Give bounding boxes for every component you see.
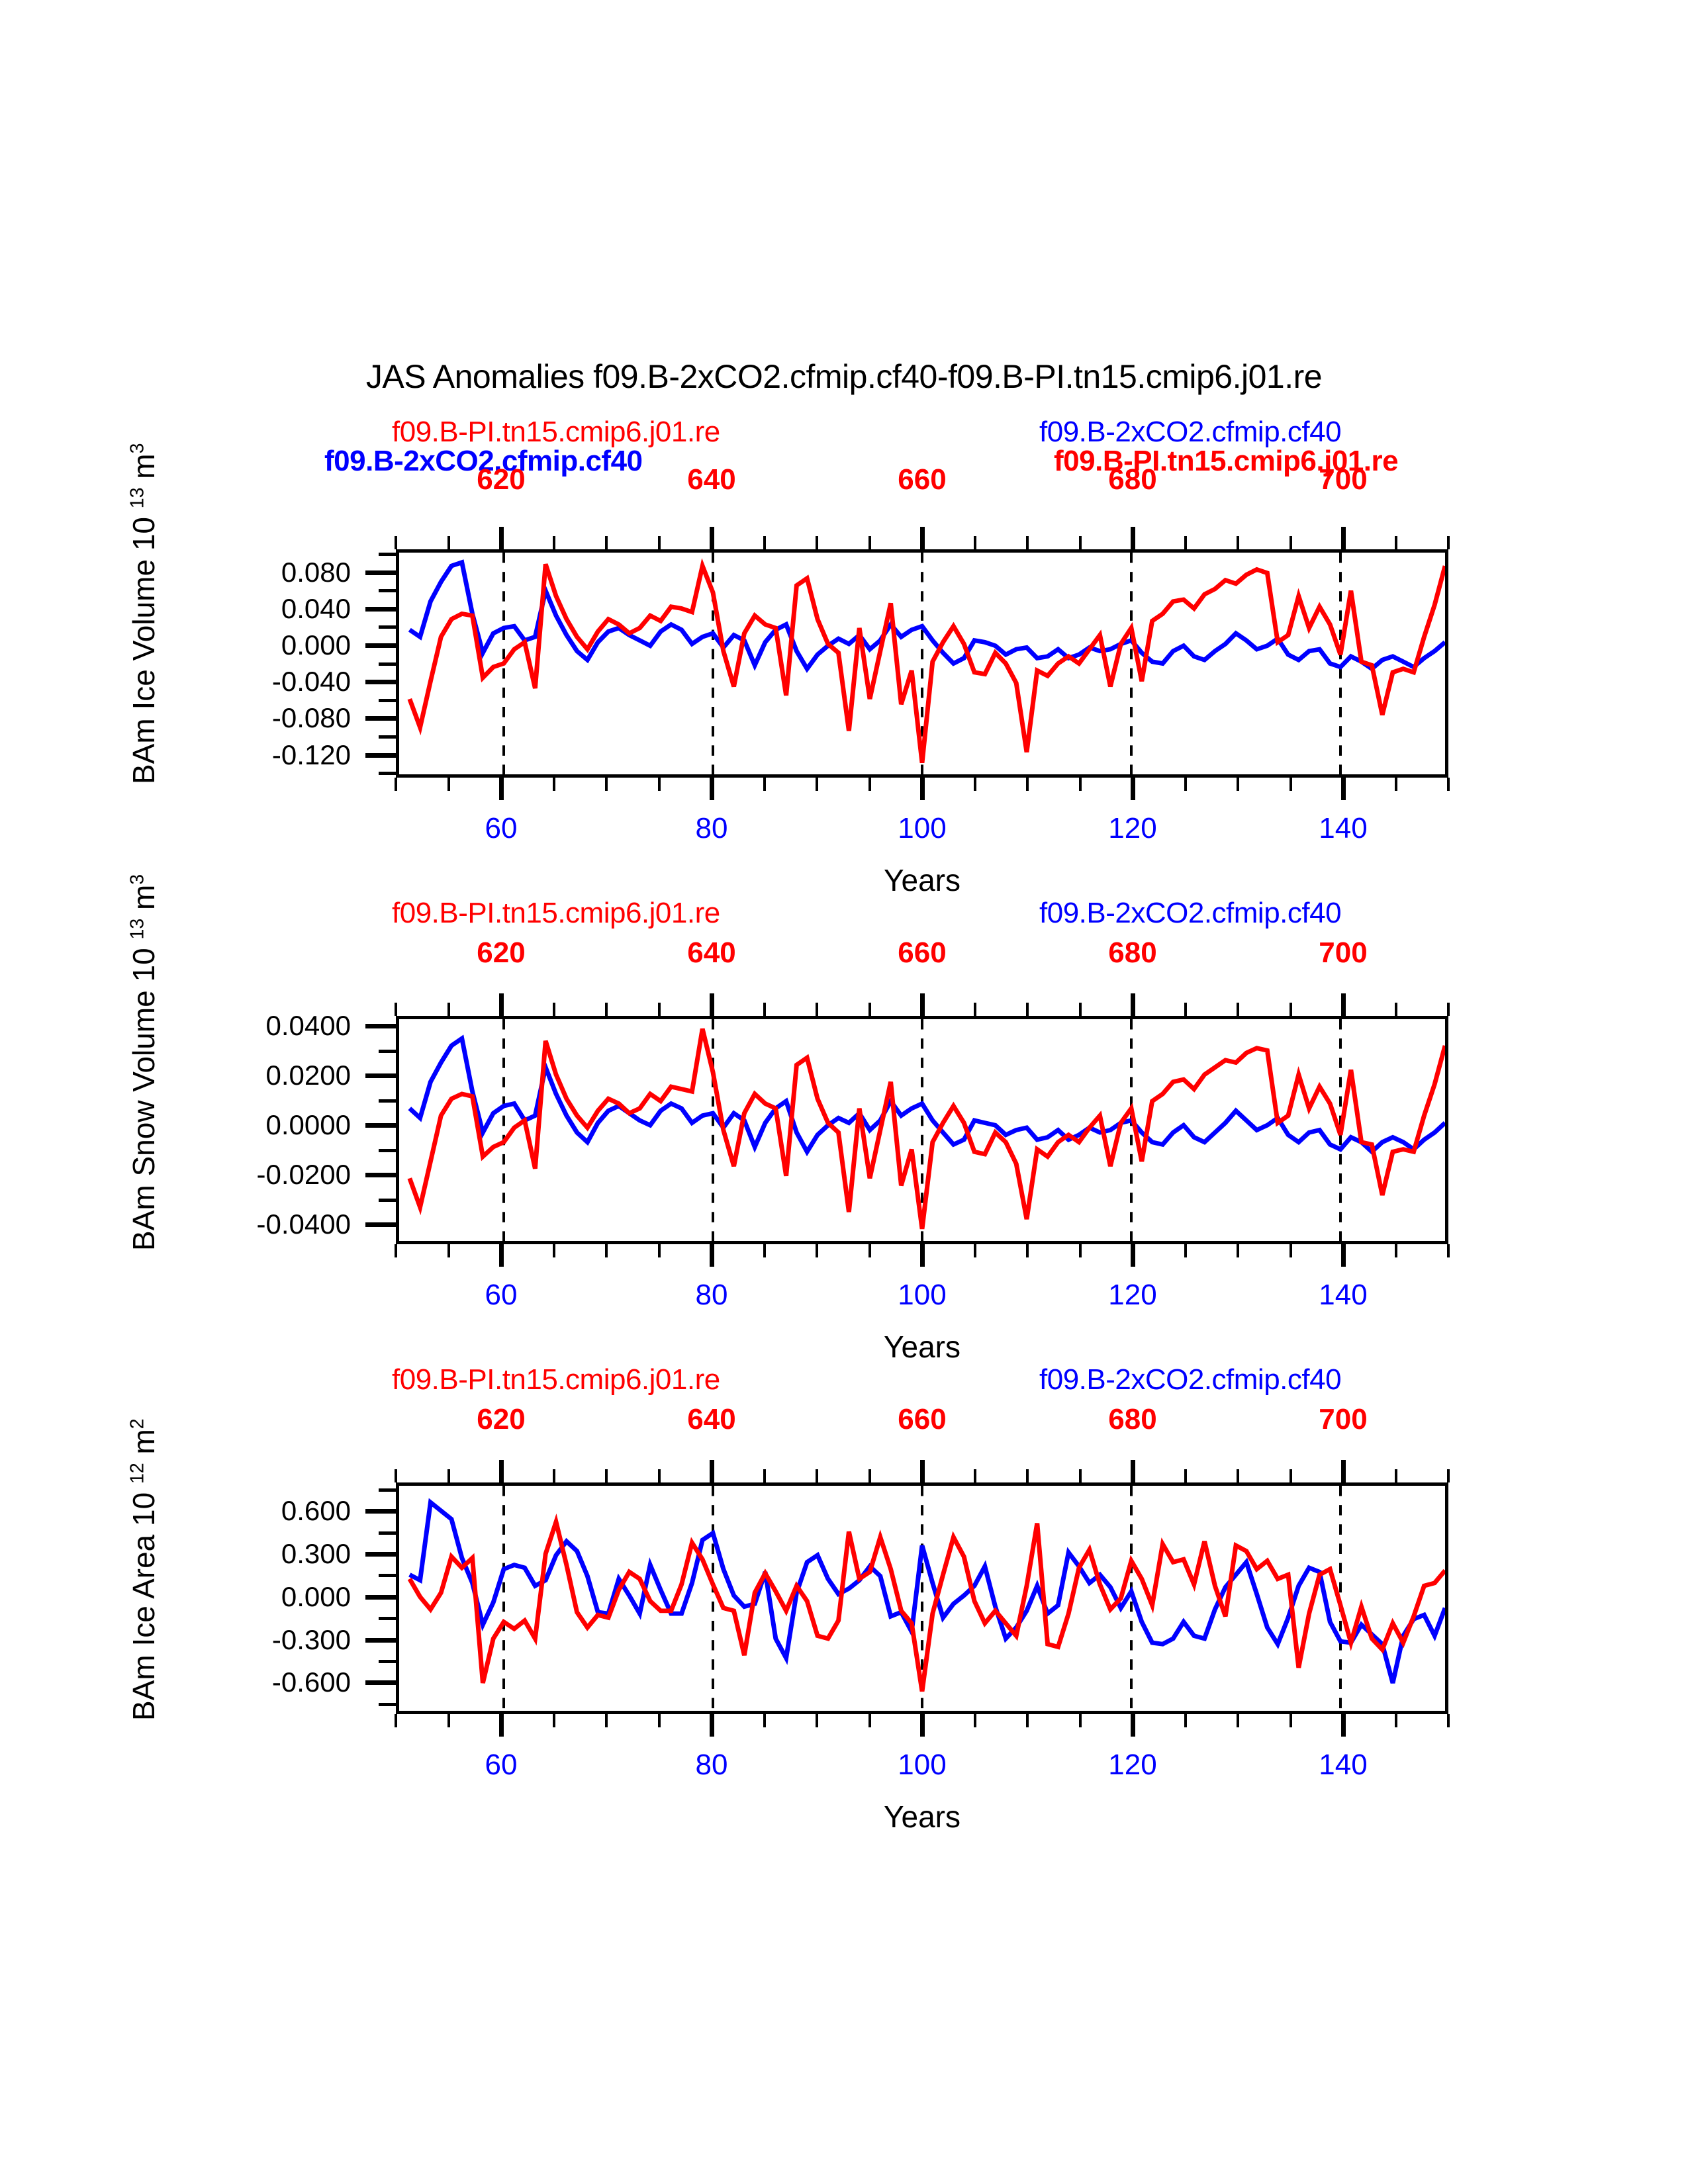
x-axis-top-tick [974, 1469, 976, 1482]
x-axis-bottom-tick [658, 1244, 661, 1257]
x-axis-bottom-tick [1184, 1714, 1187, 1727]
x-axis-top-tick [605, 1003, 608, 1016]
page-title: JAS Anomalies f09.B-2xCO2.cfmip.cf40-f09… [0, 357, 1688, 396]
y-axis-major-tick [365, 680, 396, 684]
x-axis-bottom-tick [1341, 778, 1346, 800]
x-axis-bottom-tick [868, 1244, 871, 1257]
x-axis-top-tick [1131, 527, 1135, 549]
x-axis-bottom-tick [920, 1714, 925, 1737]
top-axis-tick-label: 640 [687, 463, 735, 496]
y-axis-minor-tick [379, 1660, 396, 1663]
plot-area [396, 1482, 1448, 1714]
x-axis-top-tick [816, 536, 818, 549]
x-axis-bottom-tick [710, 1244, 714, 1267]
x-axis-top-tick [553, 1469, 555, 1482]
x-axis-bottom-tick [1447, 1714, 1450, 1727]
x-axis-top-tick [658, 536, 661, 549]
x-axis-top-tick [395, 1469, 397, 1482]
top-axis-tick-label: 640 [687, 936, 735, 970]
legend-label-blue: f09.B-2xCO2.cfmip.cf40 [1039, 1363, 1341, 1396]
x-axis-top-tick [1395, 1469, 1397, 1482]
bottom-axis-tick-label: 140 [1319, 1749, 1367, 1782]
x-axis-bottom-tick [1447, 1244, 1450, 1257]
y-axis-tick-label: 0.000 [185, 1581, 351, 1613]
x-axis-bottom-tick [710, 778, 714, 800]
y-axis-minor-tick [379, 1050, 396, 1053]
y-axis-minor-tick [379, 735, 396, 739]
x-axis-bottom-tick [1395, 778, 1397, 791]
x-axis-bottom-tick [816, 1714, 818, 1727]
x-axis-bottom-tick [763, 1244, 766, 1257]
top-axis-tick-label: 620 [477, 463, 525, 496]
y-axis-minor-tick [379, 772, 396, 775]
legend-label-blue-right: f09.B-2xCO2.cfmip.cf40 [1039, 416, 1341, 449]
x-axis-top-tick [499, 527, 504, 549]
y-axis-major-tick [365, 1509, 396, 1514]
x-axis-top-tick [710, 993, 714, 1016]
x-axis-bottom-tick [816, 1244, 818, 1257]
x-axis-bottom-tick [1079, 1244, 1082, 1257]
x-axis-bottom-tick [395, 778, 397, 791]
y-axis-title: BAm Ice Volume 10 13 m3 [126, 443, 162, 784]
x-axis-top-tick [553, 536, 555, 549]
x-axis-top-tick [1184, 1469, 1187, 1482]
bottom-axis-tick-label: 60 [485, 812, 518, 845]
x-axis-bottom-tick [395, 1244, 397, 1257]
x-axis-top-tick [868, 1003, 871, 1016]
x-axis-top-tick [499, 1460, 504, 1482]
y-axis-tick-label: 0.600 [185, 1495, 351, 1527]
x-axis-bottom-tick [763, 1714, 766, 1727]
x-axis-bottom-tick [1026, 778, 1029, 791]
x-axis-top-tick [763, 1003, 766, 1016]
y-axis-minor-tick [379, 699, 396, 702]
y-axis-tick-label: 0.000 [185, 629, 351, 661]
x-axis-bottom-tick [1079, 778, 1082, 791]
x-axis-top-tick [763, 1469, 766, 1482]
x-axis-top-tick [763, 536, 766, 549]
x-axis-bottom-tick [763, 778, 766, 791]
top-axis-tick-label: 660 [898, 463, 946, 496]
bottom-axis-tick-label: 80 [696, 1279, 728, 1312]
x-axis-bottom-tick [1341, 1244, 1346, 1267]
x-axis-top-tick [605, 1469, 608, 1482]
x-axis-top-tick [710, 1460, 714, 1482]
top-axis-tick-label: 700 [1319, 463, 1367, 496]
y-axis-tick-label: 0.080 [185, 557, 351, 588]
top-axis-tick-label: 680 [1108, 936, 1156, 970]
bottom-axis-tick-label: 120 [1108, 1749, 1156, 1782]
x-axis-top-tick [816, 1003, 818, 1016]
x-axis-bottom-tick [447, 1244, 450, 1257]
x-axis-bottom-tick [1131, 1714, 1135, 1737]
y-axis-major-tick [365, 570, 396, 575]
x-axis-top-tick [1184, 536, 1187, 549]
x-axis-bottom-tick [710, 1714, 714, 1737]
y-axis-major-tick [365, 1638, 396, 1643]
y-axis-major-tick [365, 1595, 396, 1600]
x-axis-bottom-tick [1237, 778, 1239, 791]
x-axis-bottom-tick [1237, 1244, 1239, 1257]
x-axis-top-tick [710, 527, 714, 549]
x-axis-top-tick [1131, 993, 1135, 1016]
bottom-axis-tick-label: 100 [898, 1749, 946, 1782]
bottom-axis-tick-label: 140 [1319, 1279, 1367, 1312]
x-axis-top-tick [499, 993, 504, 1016]
bottom-axis-tick-label: 60 [485, 1749, 518, 1782]
series-line-red [410, 1522, 1445, 1692]
x-axis-title: Years [884, 1799, 961, 1835]
x-axis-bottom-tick [553, 1244, 555, 1257]
x-axis-top-tick [1289, 1003, 1292, 1016]
bottom-axis-tick-label: 80 [696, 812, 728, 845]
x-axis-bottom-tick [447, 778, 450, 791]
x-axis-bottom-tick [1026, 1714, 1029, 1727]
x-axis-top-tick [1395, 1003, 1397, 1016]
bottom-axis-tick-label: 80 [696, 1749, 728, 1782]
x-axis-bottom-tick [868, 1714, 871, 1727]
x-axis-top-tick [1237, 536, 1239, 549]
series-line-red [410, 564, 1445, 762]
x-axis-top-tick [1395, 536, 1397, 549]
top-axis-tick-label: 700 [1319, 936, 1367, 970]
legend-label-blue: f09.B-2xCO2.cfmip.cf40 [1039, 897, 1341, 930]
y-axis-major-tick [365, 1173, 396, 1177]
x-axis-top-tick [605, 536, 608, 549]
y-axis-tick-label: -0.080 [185, 702, 351, 734]
legend-label-red: f09.B-PI.tn15.cmip6.j01.re [392, 416, 720, 449]
y-axis-tick-label: 0.300 [185, 1538, 351, 1570]
x-axis-top-tick [816, 1469, 818, 1482]
y-axis-title: BAm Ice Area 10 12 m2 [126, 1418, 162, 1721]
x-axis-top-tick [1447, 536, 1450, 549]
top-axis-tick-label: 660 [898, 936, 946, 970]
x-axis-title: Years [884, 1329, 961, 1365]
series-canvas [399, 1019, 1445, 1241]
x-axis-top-tick [1341, 1460, 1346, 1482]
x-axis-bottom-tick [816, 778, 818, 791]
x-axis-top-tick [920, 993, 925, 1016]
bottom-axis-tick-label: 120 [1108, 812, 1156, 845]
x-axis-bottom-tick [920, 778, 925, 800]
y-axis-tick-label: -0.300 [185, 1624, 351, 1656]
y-axis-minor-tick [379, 1617, 396, 1620]
x-axis-bottom-tick [868, 778, 871, 791]
x-axis-top-tick [658, 1003, 661, 1016]
x-axis-bottom-tick [1447, 778, 1450, 791]
x-axis-top-tick [395, 536, 397, 549]
x-axis-bottom-tick [553, 1714, 555, 1727]
bottom-axis-tick-label: 140 [1319, 812, 1367, 845]
top-axis-tick-label: 640 [687, 1403, 735, 1436]
x-axis-top-tick [658, 1469, 661, 1482]
x-axis-top-tick [1079, 1469, 1082, 1482]
y-axis-major-tick [365, 1073, 396, 1078]
y-axis-tick-label: -0.040 [185, 666, 351, 698]
x-axis-bottom-tick [1079, 1714, 1082, 1727]
x-axis-top-tick [1237, 1469, 1239, 1482]
x-axis-bottom-tick [658, 1714, 661, 1727]
x-axis-top-tick [1447, 1003, 1450, 1016]
x-axis-bottom-tick [499, 1714, 504, 1737]
x-axis-bottom-tick [499, 1244, 504, 1267]
x-axis-bottom-tick [1237, 1714, 1239, 1727]
y-axis-major-tick [365, 1123, 396, 1128]
x-axis-bottom-tick [1341, 1714, 1346, 1737]
x-axis-top-tick [868, 1469, 871, 1482]
y-axis-major-tick [365, 753, 396, 758]
x-axis-bottom-tick [1289, 778, 1292, 791]
x-axis-top-tick [1341, 993, 1346, 1016]
plot-area [396, 549, 1448, 778]
x-axis-top-tick [1026, 1003, 1029, 1016]
x-axis-bottom-tick [1026, 1244, 1029, 1257]
y-axis-tick-label: 0.0200 [185, 1060, 351, 1091]
x-axis-bottom-tick [553, 778, 555, 791]
x-axis-top-tick [920, 527, 925, 549]
y-axis-tick-label: -0.0400 [185, 1208, 351, 1240]
x-axis-top-tick [974, 1003, 976, 1016]
y-axis-major-tick [365, 716, 396, 721]
x-axis-top-tick [1079, 536, 1082, 549]
y-axis-tick-label: 0.040 [185, 593, 351, 625]
series-line-red [410, 1029, 1445, 1229]
y-axis-major-tick [365, 1680, 396, 1685]
x-axis-top-tick [1131, 1460, 1135, 1482]
x-axis-top-tick [1184, 1003, 1187, 1016]
y-axis-major-tick [365, 1024, 396, 1028]
x-axis-top-tick [1289, 1469, 1292, 1482]
x-axis-bottom-tick [974, 1714, 976, 1727]
x-axis-top-tick [553, 1003, 555, 1016]
top-axis-tick-label: 620 [477, 1403, 525, 1436]
x-axis-bottom-tick [974, 1244, 976, 1257]
y-axis-minor-tick [379, 553, 396, 556]
x-axis-top-tick [447, 1469, 450, 1482]
y-axis-major-tick [365, 643, 396, 648]
y-axis-major-tick [365, 1552, 396, 1557]
y-axis-tick-label: 0.0000 [185, 1109, 351, 1141]
x-axis-bottom-tick [447, 1714, 450, 1727]
x-axis-bottom-tick [605, 1244, 608, 1257]
x-axis-bottom-tick [1289, 1244, 1292, 1257]
y-axis-minor-tick [379, 662, 396, 666]
x-axis-bottom-tick [605, 778, 608, 791]
x-axis-bottom-tick [974, 778, 976, 791]
bottom-axis-tick-label: 60 [485, 1279, 518, 1312]
series-canvas [399, 553, 1445, 774]
top-axis-tick-label: 680 [1108, 1403, 1156, 1436]
x-axis-top-tick [1237, 1003, 1239, 1016]
x-axis-top-tick [1026, 1469, 1029, 1482]
y-axis-minor-tick [379, 625, 396, 629]
y-axis-title: BAm Snow Volume 10 13 m3 [126, 874, 162, 1251]
y-axis-minor-tick [379, 1199, 396, 1202]
y-axis-major-tick [365, 1222, 396, 1227]
y-axis-minor-tick [379, 1703, 396, 1706]
x-axis-top-tick [974, 536, 976, 549]
y-axis-minor-tick [379, 1099, 396, 1103]
x-axis-top-tick [447, 1003, 450, 1016]
top-axis-tick-label: 700 [1319, 1403, 1367, 1436]
y-axis-tick-label: -0.0200 [185, 1159, 351, 1191]
x-axis-bottom-tick [1395, 1714, 1397, 1727]
y-axis-minor-tick [379, 589, 396, 592]
y-axis-tick-label: -0.600 [185, 1666, 351, 1698]
x-axis-bottom-tick [1131, 778, 1135, 800]
x-axis-bottom-tick [605, 1714, 608, 1727]
x-axis-top-tick [1341, 527, 1346, 549]
x-axis-bottom-tick [1395, 1244, 1397, 1257]
x-axis-bottom-tick [658, 778, 661, 791]
figure-page: JAS Anomalies f09.B-2xCO2.cfmip.cf40-f09… [0, 0, 1688, 2184]
x-axis-bottom-tick [1184, 778, 1187, 791]
x-axis-bottom-tick [920, 1244, 925, 1267]
x-axis-bottom-tick [1289, 1714, 1292, 1727]
y-axis-minor-tick [379, 1574, 396, 1577]
series-canvas [399, 1486, 1445, 1711]
bottom-axis-tick-label: 100 [898, 812, 946, 845]
x-axis-top-tick [395, 1003, 397, 1016]
x-axis-bottom-tick [1184, 1244, 1187, 1257]
x-axis-top-tick [920, 1460, 925, 1482]
x-axis-top-tick [1289, 536, 1292, 549]
x-axis-bottom-tick [1131, 1244, 1135, 1267]
plot-area [396, 1016, 1448, 1244]
bottom-axis-tick-label: 120 [1108, 1279, 1156, 1312]
y-axis-minor-tick [379, 1149, 396, 1152]
y-axis-tick-label: -0.120 [185, 739, 351, 771]
y-axis-major-tick [365, 607, 396, 612]
x-axis-bottom-tick [395, 1714, 397, 1727]
y-axis-minor-tick [379, 1488, 396, 1492]
y-axis-tick-label: 0.0400 [185, 1010, 351, 1042]
legend-label-red: f09.B-PI.tn15.cmip6.j01.re [392, 1363, 720, 1396]
x-axis-top-tick [1447, 1469, 1450, 1482]
top-axis-tick-label: 620 [477, 936, 525, 970]
top-axis-tick-label: 660 [898, 1403, 946, 1436]
x-axis-top-tick [1079, 1003, 1082, 1016]
y-axis-minor-tick [379, 1531, 396, 1535]
legend-label-red: f09.B-PI.tn15.cmip6.j01.re [392, 897, 720, 930]
x-axis-top-tick [447, 536, 450, 549]
x-axis-top-tick [868, 536, 871, 549]
x-axis-top-tick [1026, 536, 1029, 549]
bottom-axis-tick-label: 100 [898, 1279, 946, 1312]
x-axis-bottom-tick [499, 778, 504, 800]
x-axis-title: Years [884, 862, 961, 898]
top-axis-tick-label: 680 [1108, 463, 1156, 496]
